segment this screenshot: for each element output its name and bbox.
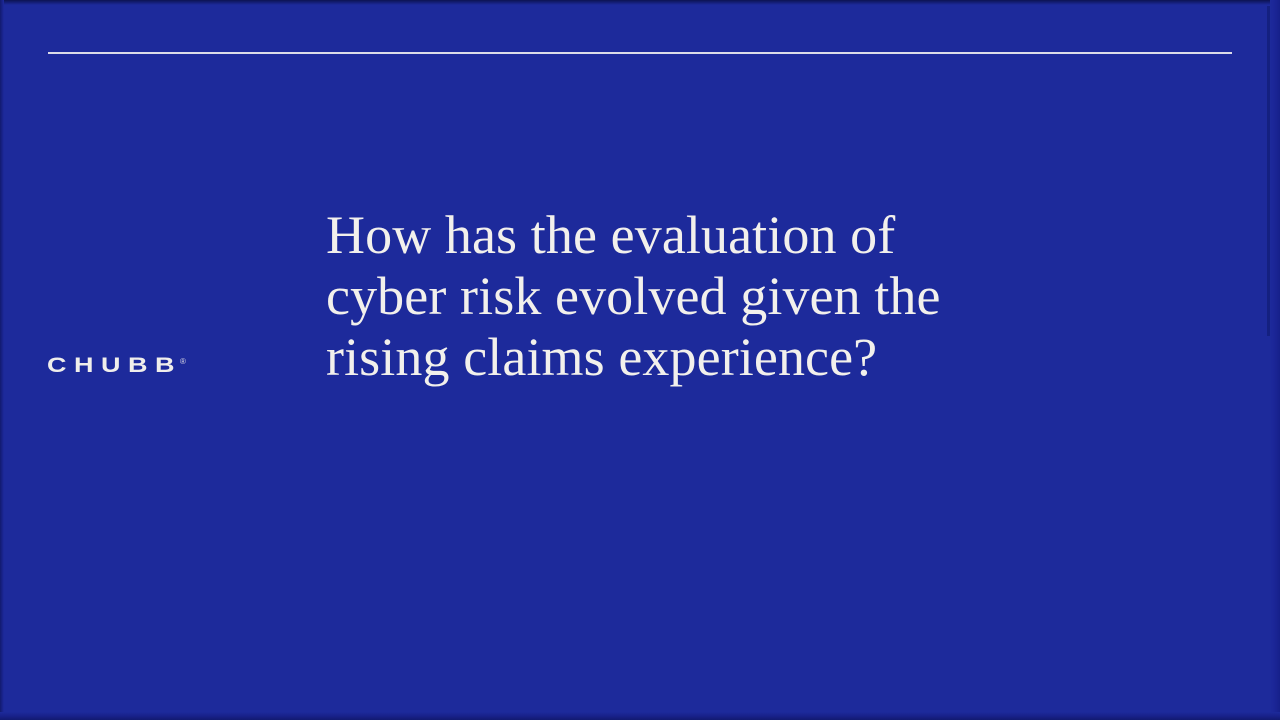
slide-title: How has the evaluation of cyber risk evo… xyxy=(326,205,1046,388)
frame-edge-top xyxy=(0,0,1280,5)
frame-edge-right xyxy=(1270,0,1280,720)
slide-title-line-3: rising claims experience? xyxy=(326,327,1046,388)
header-divider-rule xyxy=(48,52,1232,54)
frame-edge-bottom xyxy=(0,712,1280,720)
presentation-slide: CHUBB ® How has the evaluation of cyber … xyxy=(0,0,1280,720)
slide-title-line-1: How has the evaluation of xyxy=(326,205,1046,266)
frame-edge-seam xyxy=(1267,6,1270,336)
frame-edge-left xyxy=(0,0,4,720)
chubb-wordmark: CHUBB xyxy=(47,355,182,376)
slide-title-line-2: cyber risk evolved given the xyxy=(326,266,1046,327)
chubb-logo: CHUBB ® xyxy=(47,355,186,382)
